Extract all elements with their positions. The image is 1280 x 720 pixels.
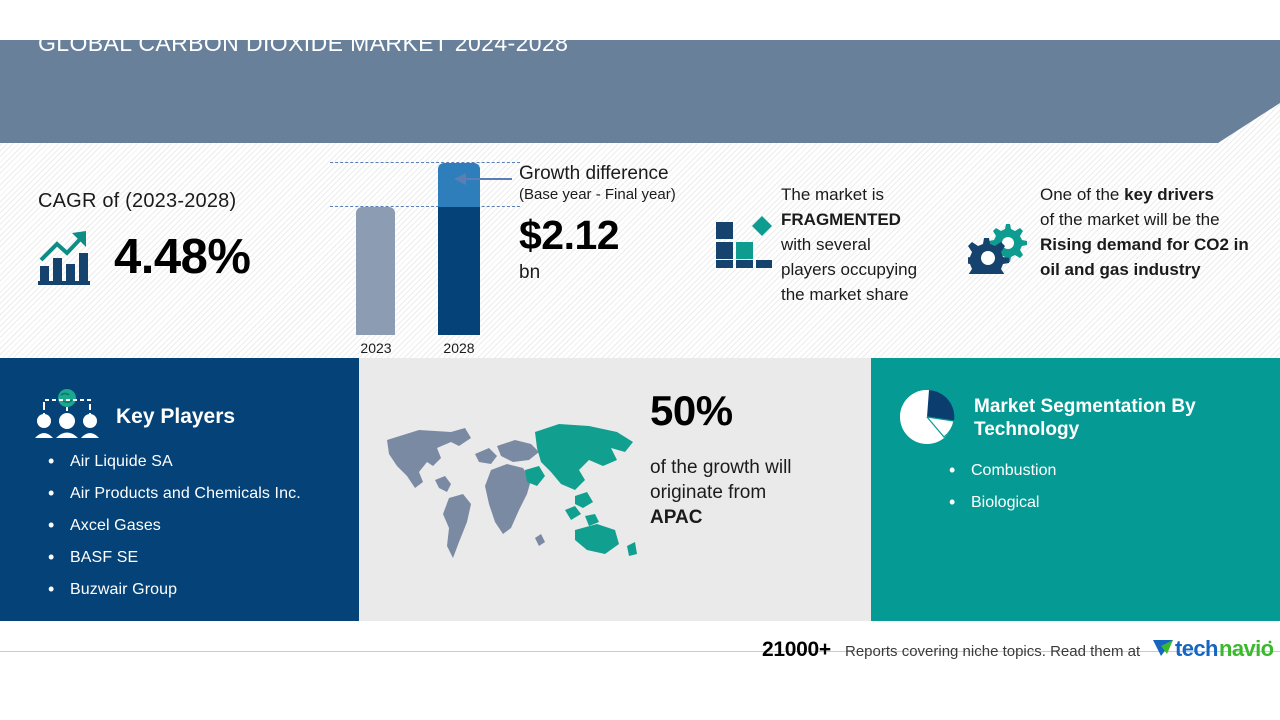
segmentation-panel: Market Segmentation By Technology Combus… bbox=[871, 358, 1280, 621]
world-map bbox=[379, 418, 649, 568]
bar-2028-year: 2028 bbox=[414, 339, 504, 358]
bar-2028-base bbox=[438, 206, 480, 335]
list-item: Air Liquide SA bbox=[48, 453, 301, 471]
list-item: Buzwair Group bbox=[48, 581, 301, 599]
page-title: GLOBAL CARBON DIOXIDE MARKET 2024-2028 bbox=[38, 30, 568, 57]
key-drivers-emphasis1: key drivers bbox=[1124, 185, 1214, 204]
blocks-fragmented-icon bbox=[716, 216, 772, 273]
key-drivers-line1-pre: One of the bbox=[1040, 185, 1124, 204]
list-item: Biological bbox=[949, 494, 1056, 512]
svg-text:navio: navio bbox=[1219, 636, 1273, 661]
growth-difference-value: $2.12 bbox=[519, 212, 619, 259]
region-emphasis: APAC bbox=[650, 507, 702, 528]
infographic-page: GLOBAL CARBON DIOXIDE MARKET 2024-2028 C… bbox=[0, 0, 1280, 720]
bar-chart-growth-icon bbox=[36, 228, 96, 286]
key-drivers-line2: of the market will be the bbox=[1040, 210, 1220, 229]
key-players-panel: Key Players Air Liquide SA Air Products … bbox=[0, 358, 359, 621]
growth-difference-unit: bn bbox=[519, 262, 540, 284]
cagr-label: CAGR of (2023-2028) bbox=[38, 190, 236, 213]
bar-2023 bbox=[356, 207, 395, 335]
gears-icon bbox=[968, 222, 1028, 279]
key-players-header: Key Players bbox=[34, 388, 235, 445]
region-line2: originate from bbox=[650, 482, 766, 503]
segmentation-title: Market Segmentation By Technology bbox=[974, 388, 1224, 441]
fragmented-line3: players occupying bbox=[781, 260, 917, 279]
key-drivers-emphasis2: Rising demand for CO2 in oil and gas ind… bbox=[1040, 235, 1249, 279]
fragmented-line2: with several bbox=[781, 235, 871, 254]
svg-text:tech: tech bbox=[1175, 636, 1218, 661]
region-line1: of the growth will bbox=[650, 457, 792, 478]
fragmented-text: The market is FRAGMENTED with several pl… bbox=[781, 182, 956, 307]
key-players-title: Key Players bbox=[116, 405, 235, 429]
growth-callout-arrow-icon bbox=[452, 168, 514, 190]
growth-difference-title: Growth difference bbox=[519, 163, 669, 185]
segmentation-list: Combustion Biological bbox=[949, 462, 1056, 526]
fragmented-emphasis: FRAGMENTED bbox=[781, 210, 901, 229]
region-text: of the growth will originate from APAC bbox=[650, 455, 840, 530]
footer-tagline: Reports covering niche topics. Read them… bbox=[845, 643, 1140, 660]
region-percent: 50% bbox=[650, 387, 733, 435]
list-item: Air Products and Chemicals Inc. bbox=[48, 485, 301, 503]
technavio-logo[interactable]: tech navio bbox=[1151, 636, 1273, 667]
segmentation-header: Market Segmentation By Technology bbox=[898, 388, 1224, 451]
guide-line-top bbox=[330, 162, 520, 163]
bar-2023-year: 2023 bbox=[331, 339, 421, 358]
list-item: Axcel Gases bbox=[48, 517, 301, 535]
region-panel: 50% of the growth will originate from AP… bbox=[359, 358, 871, 621]
list-item: BASF SE bbox=[48, 549, 301, 567]
reports-count: 21000+ bbox=[762, 638, 831, 662]
key-players-list: Air Liquide SA Air Products and Chemical… bbox=[48, 453, 301, 613]
growth-difference-subtitle: (Base year - Final year) bbox=[519, 186, 676, 203]
fragmented-line4: the market share bbox=[781, 285, 909, 304]
fragmented-line1: The market is bbox=[781, 185, 884, 204]
list-item: Combustion bbox=[949, 462, 1056, 480]
key-drivers-text: One of the key drivers of the market wil… bbox=[1040, 182, 1262, 282]
technavio-arrow-icon bbox=[1153, 640, 1173, 656]
cagr-value: 4.48% bbox=[114, 233, 250, 282]
globe-people-icon bbox=[34, 388, 100, 445]
cagr-row: 4.48% bbox=[36, 228, 250, 286]
pie-chart-icon bbox=[898, 388, 956, 451]
